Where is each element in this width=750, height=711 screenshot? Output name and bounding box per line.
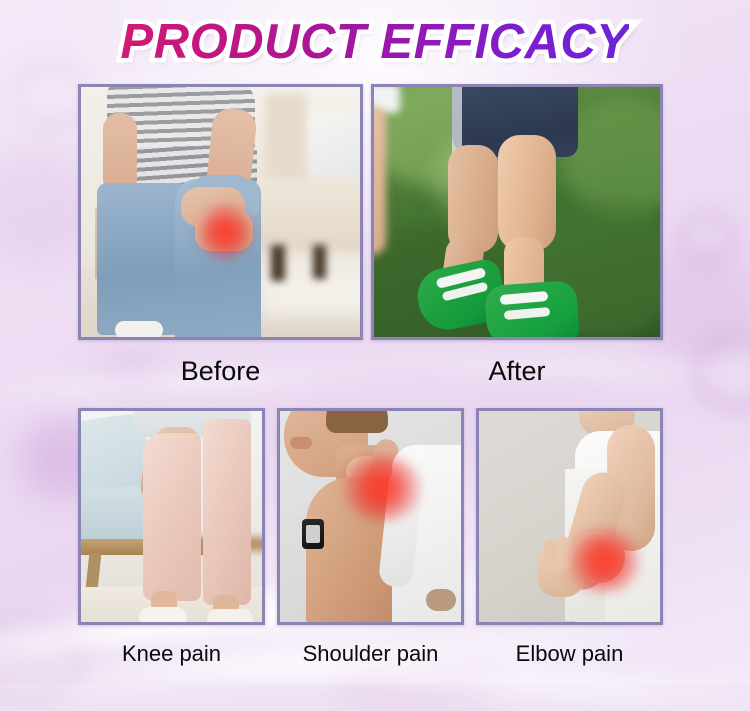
before-caption: Before <box>78 356 363 387</box>
shoulder-pain-glow <box>340 455 424 521</box>
after-photo-frame[interactable] <box>371 84 663 340</box>
after-caption-text: After <box>488 356 545 386</box>
elbow-pain-caption: Elbow pain <box>476 641 663 667</box>
elbow-pain-caption-text: Elbow pain <box>516 641 624 666</box>
after-photo <box>374 87 660 337</box>
shoulder-pain-photo <box>280 411 461 622</box>
knee-pain-photo-frame[interactable] <box>78 408 265 625</box>
shoulder-pain-caption-text: Shoulder pain <box>303 641 439 666</box>
knee-pain-caption-text: Knee pain <box>122 641 221 666</box>
knee-pain-glow <box>197 203 253 261</box>
before-caption-text: Before <box>181 356 261 386</box>
elbow-pain-photo-frame[interactable] <box>476 408 663 625</box>
shoulder-pain-photo-frame[interactable] <box>277 408 464 625</box>
background-bokeh-ring <box>676 210 738 266</box>
knee-pain-caption: Knee pain <box>78 641 265 667</box>
before-photo <box>81 87 360 337</box>
knee-pain-photo <box>81 411 262 622</box>
elbow-pain-photo <box>479 411 660 622</box>
page-title: PRODUCT EFFICACY PRODUCT EFFICACY <box>0 8 750 76</box>
shoulder-pain-caption: Shoulder pain <box>277 641 464 667</box>
elbow-pain-glow <box>565 529 643 593</box>
page-title-gradient: PRODUCT EFFICACY <box>0 12 750 72</box>
after-caption: After <box>371 356 663 387</box>
before-photo-frame[interactable] <box>78 84 363 340</box>
page-title-text: PRODUCT EFFICACY <box>121 15 630 69</box>
